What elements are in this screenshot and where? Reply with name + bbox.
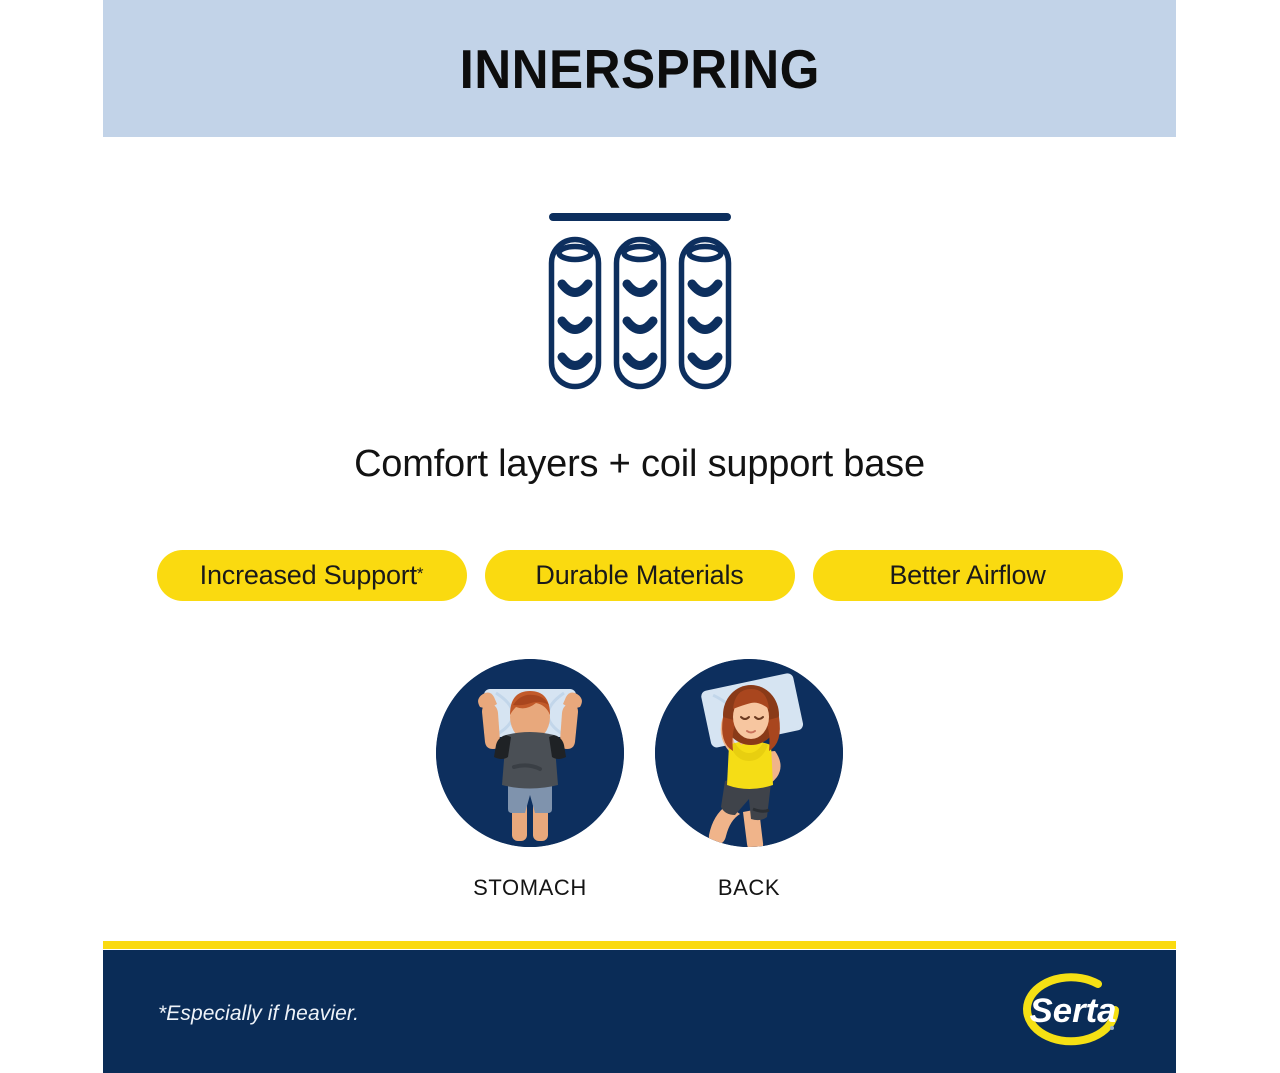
feature-pill-label: Durable Materials: [535, 560, 743, 591]
innerspring-infographic: INNERSPRING: [0, 0, 1280, 1073]
coil-springs-icon: [540, 205, 740, 395]
feature-pill-better-airflow[interactable]: Better Airflow: [813, 550, 1123, 601]
page-title: INNERSPRING: [459, 37, 819, 101]
sleeper-label-stomach: STOMACH: [473, 875, 587, 901]
sleeper-position-stomach: STOMACH: [436, 659, 624, 901]
sleeper-label-back: BACK: [718, 875, 780, 901]
serta-logo: Serta: [1020, 970, 1128, 1050]
sleeper-position-back: BACK: [655, 659, 843, 901]
feature-pill-durable-materials[interactable]: Durable Materials: [485, 550, 795, 601]
subtitle: Comfort layers + coil support base: [103, 443, 1176, 486]
stomach-sleeper-illustration: [436, 659, 624, 847]
feature-pill-row: Increased Support* Durable Materials Bet…: [103, 550, 1176, 601]
sleeper-position-row: STOMACH: [103, 659, 1176, 901]
footnote-text: *Especially if heavier.: [158, 1002, 359, 1026]
header-band: INNERSPRING: [103, 0, 1176, 137]
svg-text:Serta: Serta: [1030, 992, 1117, 1030]
footer-accent-stripe: [103, 941, 1176, 949]
feature-pill-increased-support[interactable]: Increased Support*: [157, 550, 467, 601]
feature-pill-label: Better Airflow: [889, 560, 1045, 591]
back-sleeper-illustration: [655, 659, 843, 847]
feature-pill-label: Increased Support: [200, 560, 417, 591]
footer: *Especially if heavier. Serta: [103, 950, 1176, 1073]
